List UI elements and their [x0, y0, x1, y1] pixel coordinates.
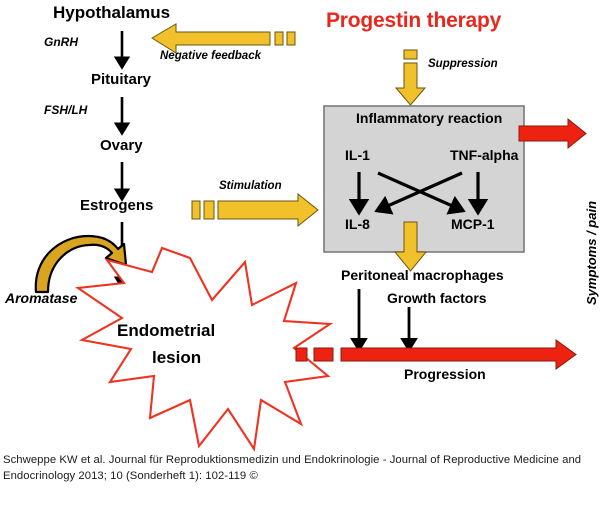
- cytokine-il1: IL-1: [345, 148, 370, 163]
- label-symptoms-pain: Symptoms / pain: [585, 201, 599, 305]
- figure-canvas: Hypothalamus GnRH Pituitary FSH/LH Ovary…: [0, 0, 600, 517]
- label-growth-factors: Growth factors: [387, 291, 487, 306]
- chemokine-mcp1: MCP-1: [451, 217, 495, 232]
- node-pituitary: Pituitary: [91, 72, 151, 88]
- inflammatory-box-title: Inflammatory reaction: [356, 111, 502, 126]
- label-progression: Progression: [404, 367, 486, 382]
- node-hypothalamus: Hypothalamus: [53, 4, 170, 22]
- node-estrogens: Estrogens: [80, 198, 153, 214]
- label-stimulation: Stimulation: [219, 180, 282, 192]
- edge-label-gnrh: GnRH: [44, 36, 78, 49]
- page-title-progestin-therapy: Progestin therapy: [326, 10, 501, 32]
- label-suppression: Suppression: [428, 58, 498, 70]
- diagram-text-layer: Hypothalamus GnRH Pituitary FSH/LH Ovary…: [0, 0, 600, 517]
- label-peritoneal-macrophages: Peritoneal macrophages: [341, 268, 504, 283]
- citation-text: Schweppe KW et al. Journal für Reprodukt…: [3, 452, 597, 484]
- lesion-label-line1: Endometrial: [117, 322, 215, 340]
- cytokine-tnf-alpha: TNF-alpha: [450, 148, 518, 163]
- label-negative-feedback: Negative feedback: [160, 50, 261, 62]
- chemokine-il8: IL-8: [345, 217, 370, 232]
- edge-label-fshlh: FSH/LH: [44, 104, 87, 117]
- lesion-label-line2: lesion: [152, 349, 201, 367]
- label-aromatase: Aromatase: [5, 291, 77, 306]
- node-ovary: Ovary: [100, 138, 143, 154]
